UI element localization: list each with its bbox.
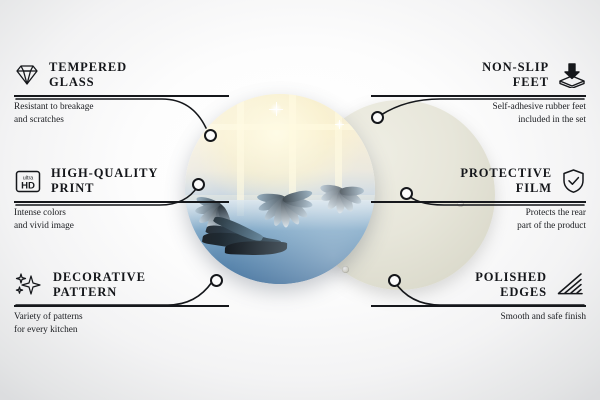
feature-header: DECORATIVE PATTERN xyxy=(14,268,229,302)
feature-title: NON-SLIP FEET xyxy=(482,60,549,91)
ultra-hd-icon: ultra HD xyxy=(14,169,42,194)
svg-text:HD: HD xyxy=(21,180,35,191)
lotus-flower xyxy=(317,176,367,206)
feature-divider xyxy=(14,305,229,307)
connector-dot-tempered-glass xyxy=(204,129,217,142)
feature-header: TEMPERED GLASS xyxy=(14,58,229,92)
feature-title: PROTECTIVE FILM xyxy=(460,166,552,197)
infographic-canvas: TEMPERED GLASS Resistant to breakage and… xyxy=(0,0,600,400)
feature-description: Protects the rear part of the product xyxy=(371,207,586,233)
feature-high-quality-print[interactable]: ultra HD HIGH-QUALITY PRINT Intense colo… xyxy=(14,164,229,233)
sparkles-icon xyxy=(14,272,44,298)
feature-title: TEMPERED GLASS xyxy=(49,60,127,91)
feature-divider xyxy=(371,305,586,307)
feature-divider xyxy=(371,201,586,203)
feature-description: Smooth and safe finish xyxy=(371,311,586,324)
petal xyxy=(340,186,364,196)
light-sparkle xyxy=(269,102,283,116)
feature-title: HIGH-QUALITY PRINT xyxy=(51,166,158,197)
feature-header: PROTECTIVE FILM xyxy=(371,164,586,198)
arrow-down-pad-icon xyxy=(558,62,586,88)
feature-polished-edges[interactable]: POLISHED EDGES Smooth and safe finish xyxy=(371,268,586,324)
feature-header: POLISHED EDGES xyxy=(371,268,586,302)
feature-description: Resistant to breakage and scratches xyxy=(14,101,229,127)
feature-description: Self-adhesive rubber feet included in th… xyxy=(371,101,586,127)
feature-title: POLISHED EDGES xyxy=(475,270,547,301)
feature-description: Intense colors and vivid image xyxy=(14,207,229,233)
feature-divider xyxy=(14,201,229,203)
diagonal-lines-icon xyxy=(556,273,586,297)
light-sparkle xyxy=(335,120,344,129)
diamond-icon xyxy=(14,63,40,87)
feature-header: NON-SLIP FEET xyxy=(371,58,586,92)
lotus-flower xyxy=(257,182,313,216)
feature-title: DECORATIVE PATTERN xyxy=(53,270,146,301)
feature-description: Variety of patterns for every kitchen xyxy=(14,311,229,337)
feature-header: ultra HD HIGH-QUALITY PRINT xyxy=(14,164,229,198)
feature-divider xyxy=(14,95,229,97)
feature-tempered-glass[interactable]: TEMPERED GLASS Resistant to breakage and… xyxy=(14,58,229,127)
feature-decorative-pattern[interactable]: DECORATIVE PATTERN Variety of patterns f… xyxy=(14,268,229,337)
feature-non-slip-feet[interactable]: NON-SLIP FEET Self-adhesive rubber feet … xyxy=(371,58,586,127)
shield-check-icon xyxy=(561,168,586,194)
feature-protective-film[interactable]: PROTECTIVE FILM Protects the rear part o… xyxy=(371,164,586,233)
feature-divider xyxy=(371,95,586,97)
